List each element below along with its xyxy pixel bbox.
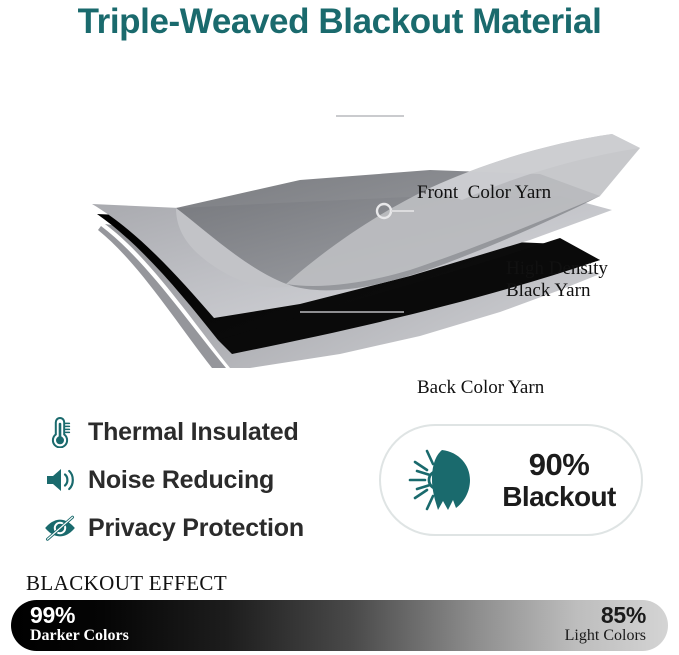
gradient-bar-right-percent: 85% [565, 604, 646, 627]
blackout-badge: 90% Blackout [379, 424, 643, 536]
blackout-effect-heading: BLACKOUT EFFECT [26, 571, 227, 596]
blackout-badge-text: 90% Blackout [485, 449, 641, 510]
feature-item-privacy-protection: Privacy Protection [40, 504, 360, 552]
feature-item-noise-reducing: Noise Reducing [40, 456, 360, 504]
gradient-bar-left-percent: 99% [30, 604, 129, 627]
callout-label-back: Back Color Yarn [417, 377, 544, 399]
gradient-bar-left-stat: 99% Darker Colors [30, 604, 129, 644]
callout-label-front: Front Color Yarn [417, 182, 551, 204]
blackout-percent: 90% [485, 449, 633, 481]
feature-label-noise-reducing: Noise Reducing [88, 466, 274, 495]
fabric-layers-diagram: Front Color Yarn High Density Black Yarn… [0, 78, 679, 368]
speaker-icon [40, 460, 80, 500]
blackout-word: Blackout [485, 482, 633, 511]
eye-slash-icon [40, 508, 80, 548]
callout-label-high-density: High Density Black Yarn [506, 258, 608, 303]
feature-item-thermal-insulated: Thermal Insulated [40, 408, 360, 456]
blackout-effect-gradient-bar: 99% Darker Colors 85% Light Colors [11, 600, 668, 651]
gradient-bar-left-caption: Darker Colors [30, 628, 129, 644]
feature-list: Thermal Insulated Noise Reducing Privacy… [40, 408, 360, 552]
feature-label-privacy-protection: Privacy Protection [88, 514, 304, 543]
sun-blocked-icon [399, 440, 485, 520]
page-title: Triple-Weaved Blackout Material [0, 2, 679, 42]
thermometer-icon [40, 412, 80, 452]
gradient-bar-right-caption: Light Colors [565, 628, 646, 644]
feature-label-thermal-insulated: Thermal Insulated [88, 418, 299, 447]
gradient-bar-right-stat: 85% Light Colors [565, 604, 646, 644]
